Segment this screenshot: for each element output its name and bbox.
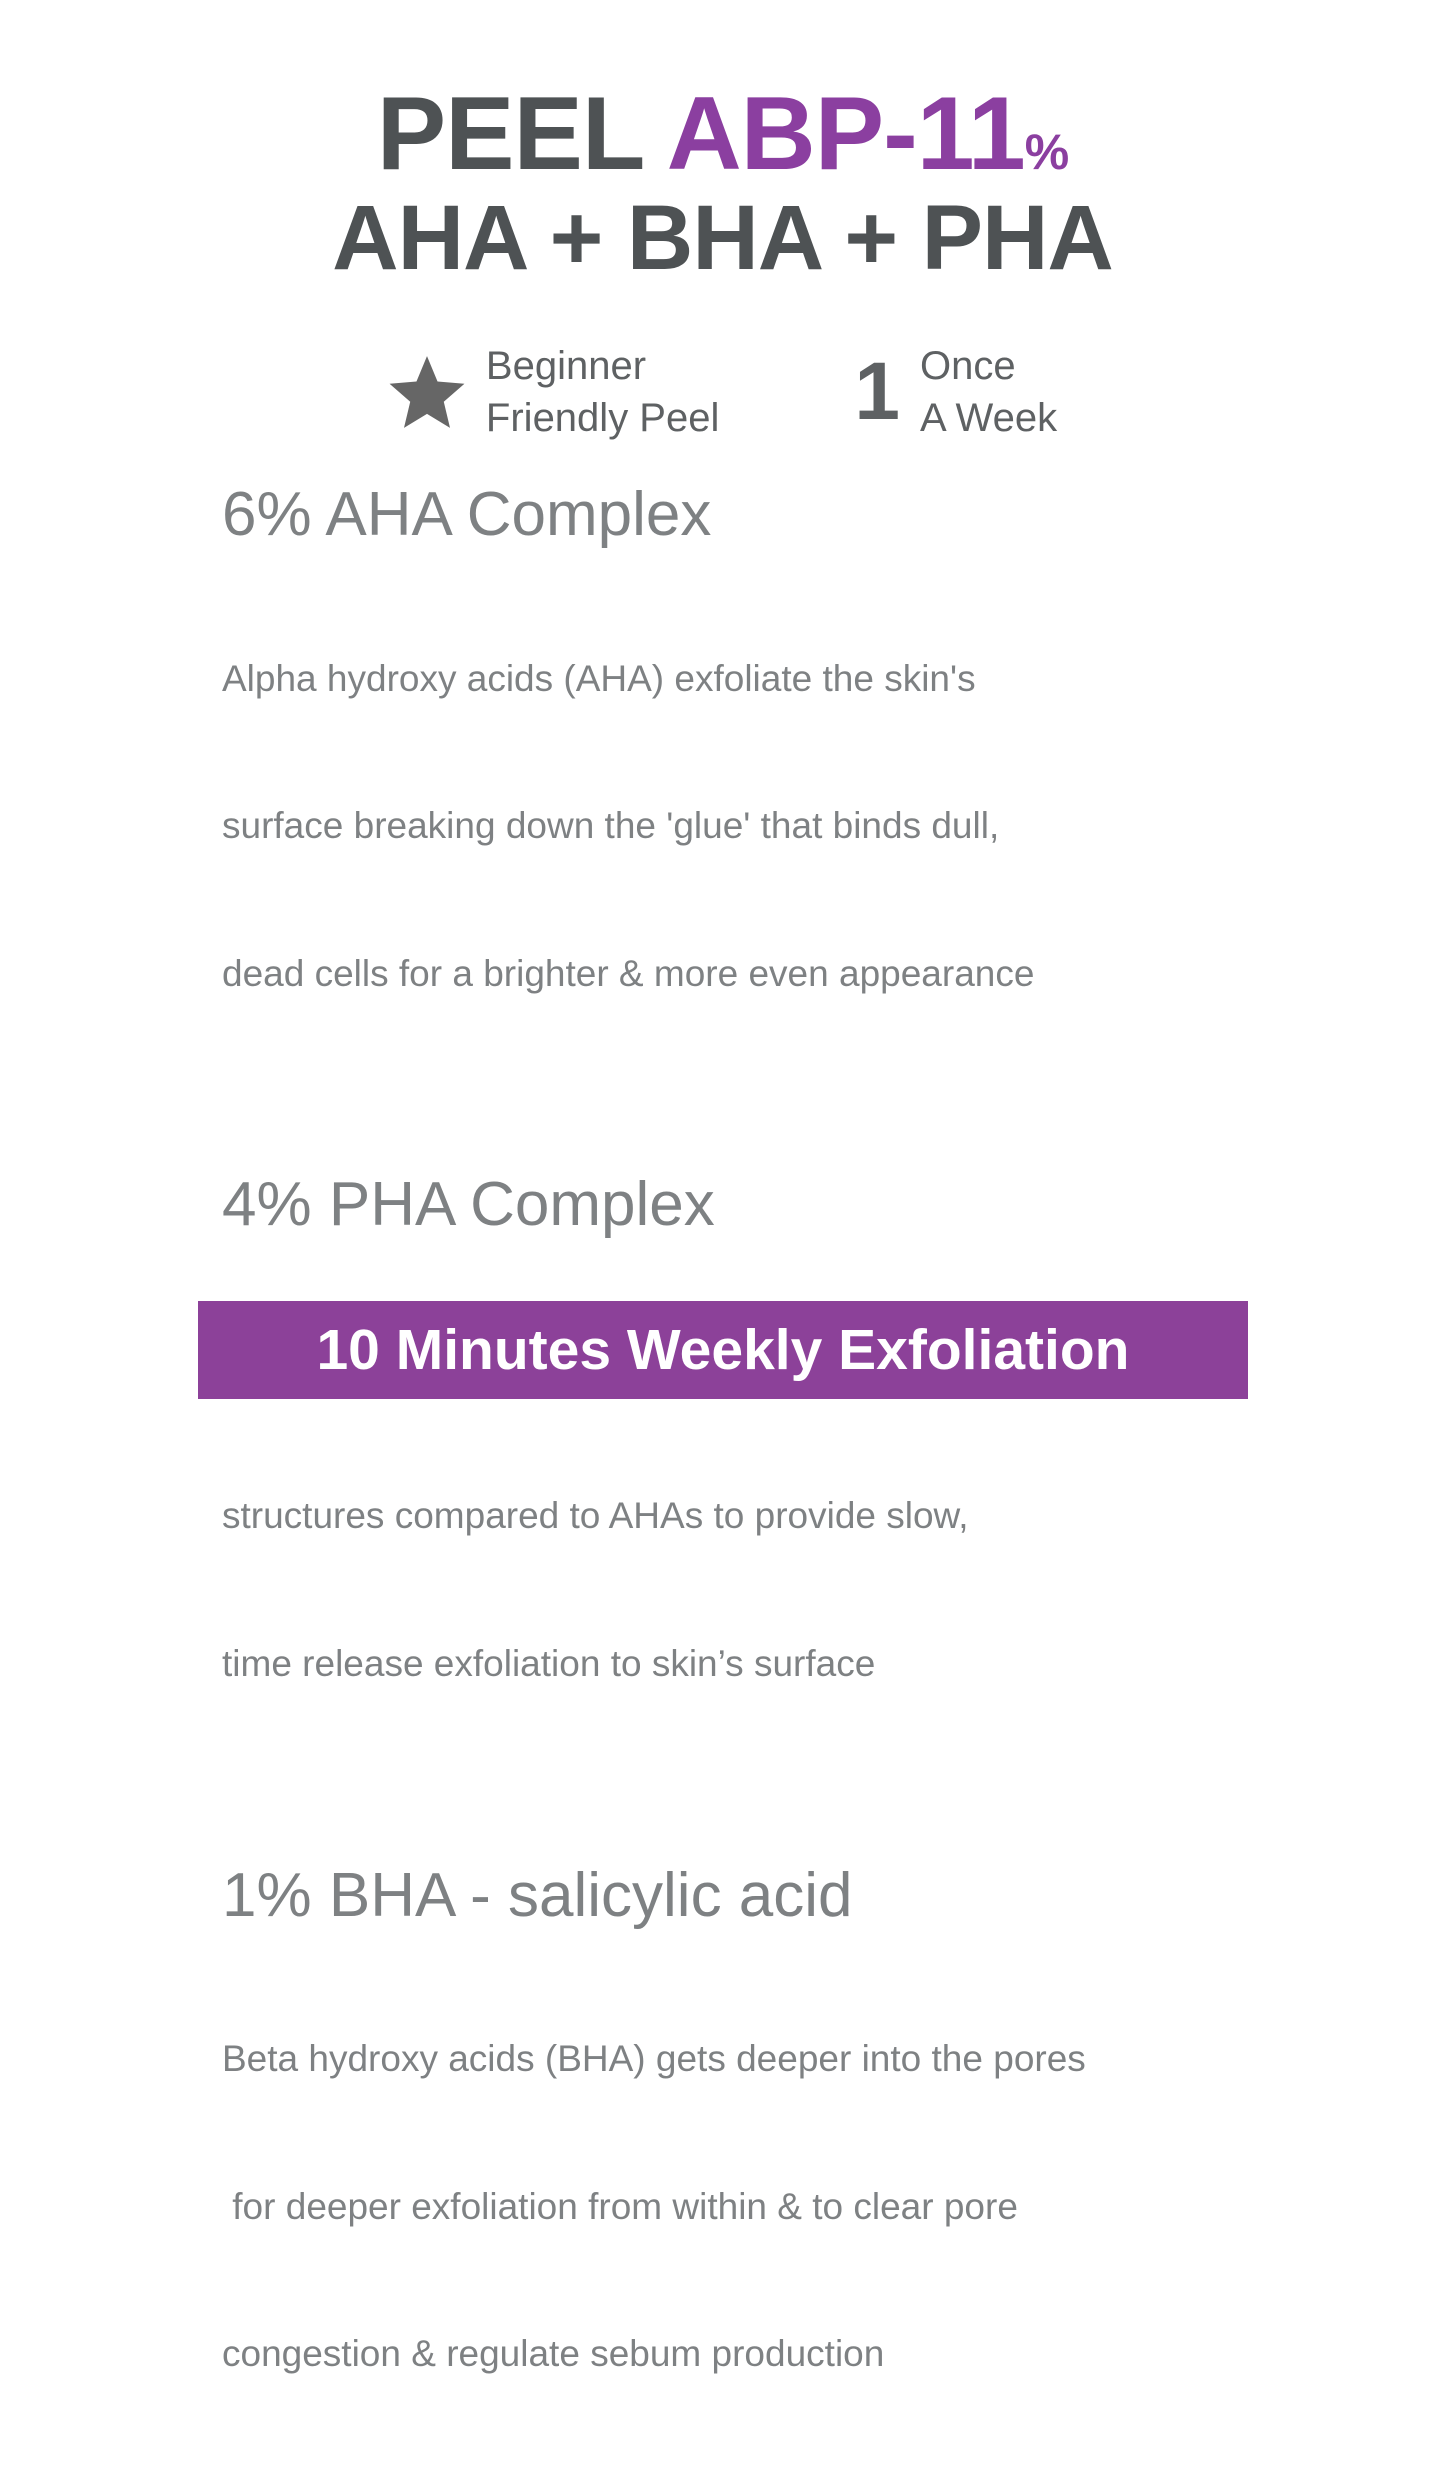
title-line-1: PEEL ABP-11%: [0, 82, 1445, 186]
title-acid-blend: AHA + BHA + PHA: [0, 192, 1445, 284]
badge-beginner-line-2: Friendly Peel: [486, 392, 719, 444]
badge-frequency-line-2: A Week: [920, 392, 1057, 444]
footer-banner: 10 Minutes Weekly Exfoliation: [198, 1301, 1248, 1399]
ingredient-body-aha: Alpha hydroxy acids (AHA) exfoliate the …: [222, 555, 1302, 1096]
ingredient-body-line: congestion & regulate sebum production: [222, 2329, 1302, 2378]
footer-banner-text: 10 Minutes Weekly Exfoliation: [316, 1322, 1129, 1379]
title-product-code: ABP-11: [667, 76, 1025, 192]
ingredient-body-line: Alpha hydroxy acids (AHA) exfoliate the …: [222, 654, 1302, 703]
badge-frequency-text: Once A Week: [920, 340, 1057, 444]
badge-frequency-line-1: Once: [920, 340, 1057, 392]
badge-row: Beginner Friendly Peel 1 Once A Week: [0, 340, 1445, 444]
frequency-numeral: 1: [854, 353, 900, 431]
title-percent-symbol: %: [1025, 124, 1068, 180]
ingredient-heading-aha: 6% AHA Complex: [222, 482, 1302, 547]
ingredient-section-aha: 6% AHA Complex Alpha hydroxy acids (AHA)…: [222, 482, 1302, 1096]
star-icon: [388, 353, 466, 431]
ingredient-body-line: for deeper exfoliation from within & to …: [222, 2182, 1302, 2231]
ingredient-body-line: surface breaking down the 'glue' that bi…: [222, 801, 1302, 850]
badge-beginner-text: Beginner Friendly Peel: [486, 340, 719, 444]
ingredient-heading-pha: 4% PHA Complex: [222, 1172, 1302, 1237]
badge-beginner-friendly: Beginner Friendly Peel: [388, 340, 719, 444]
badge-frequency: 1 Once A Week: [854, 340, 1057, 444]
product-title-block: PEEL ABP-11% AHA + BHA + PHA: [0, 82, 1445, 284]
ingredient-body-line: Beta hydroxy acids (BHA) gets deeper int…: [222, 2034, 1302, 2083]
infographic-page: PEEL ABP-11% AHA + BHA + PHA Beginner Fr…: [0, 0, 1445, 1445]
ingredient-body-bha: Beta hydroxy acids (BHA) gets deeper int…: [222, 1936, 1302, 2477]
ingredient-sections: 6% AHA Complex Alpha hydroxy acids (AHA)…: [222, 482, 1302, 2477]
badge-beginner-line-1: Beginner: [486, 340, 719, 392]
ingredient-section-pha: 4% PHA Complex Poly hydroxy acids (PHA) …: [222, 1172, 1302, 1786]
ingredient-heading-bha: 1% BHA - salicylic acid: [222, 1863, 1302, 1928]
ingredient-body-line: structures compared to AHAs to provide s…: [222, 1491, 1302, 1540]
title-peel-text: PEEL: [377, 76, 667, 192]
ingredient-body-line: time release exfoliation to skin’s surfa…: [222, 1639, 1302, 1688]
ingredient-section-bha: 1% BHA - salicylic acid Beta hydroxy aci…: [222, 1863, 1302, 2477]
ingredient-body-line: dead cells for a brighter & more even ap…: [222, 949, 1302, 998]
